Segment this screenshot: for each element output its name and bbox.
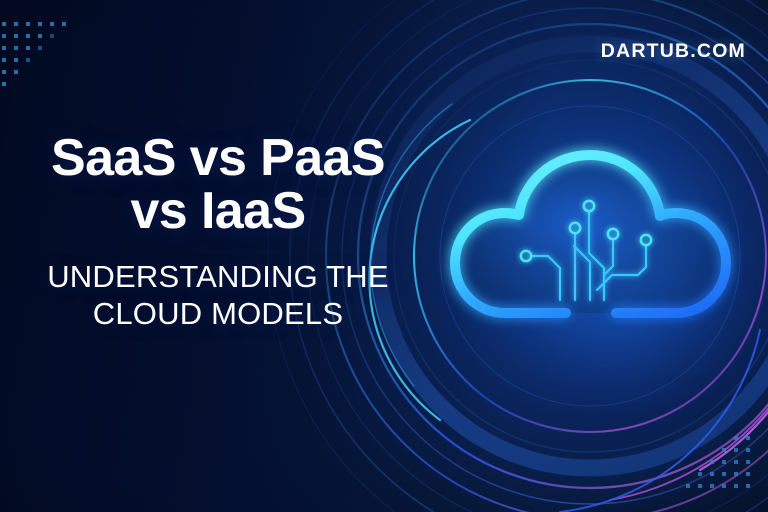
- subheadline-line-1: UNDERSTANDING THE: [47, 259, 389, 294]
- poster-text-block: SaaS vs PaaS vs IaaS UNDERSTANDING THE C…: [8, 132, 428, 332]
- headline-line-1: SaaS vs PaaS: [51, 129, 385, 187]
- page-title: SaaS vs PaaS vs IaaS: [8, 132, 428, 238]
- headline-line-2: vs IaaS: [8, 185, 428, 238]
- page-subtitle: UNDERSTANDING THE CLOUD MODELS: [8, 259, 428, 332]
- subheadline-line-2: CLOUD MODELS: [8, 296, 428, 333]
- brand-logo[interactable]: DARTUB.COM: [601, 40, 746, 63]
- poster-canvas: DARTUB.COM SaaS vs PaaS vs IaaS UNDERSTA…: [0, 0, 768, 512]
